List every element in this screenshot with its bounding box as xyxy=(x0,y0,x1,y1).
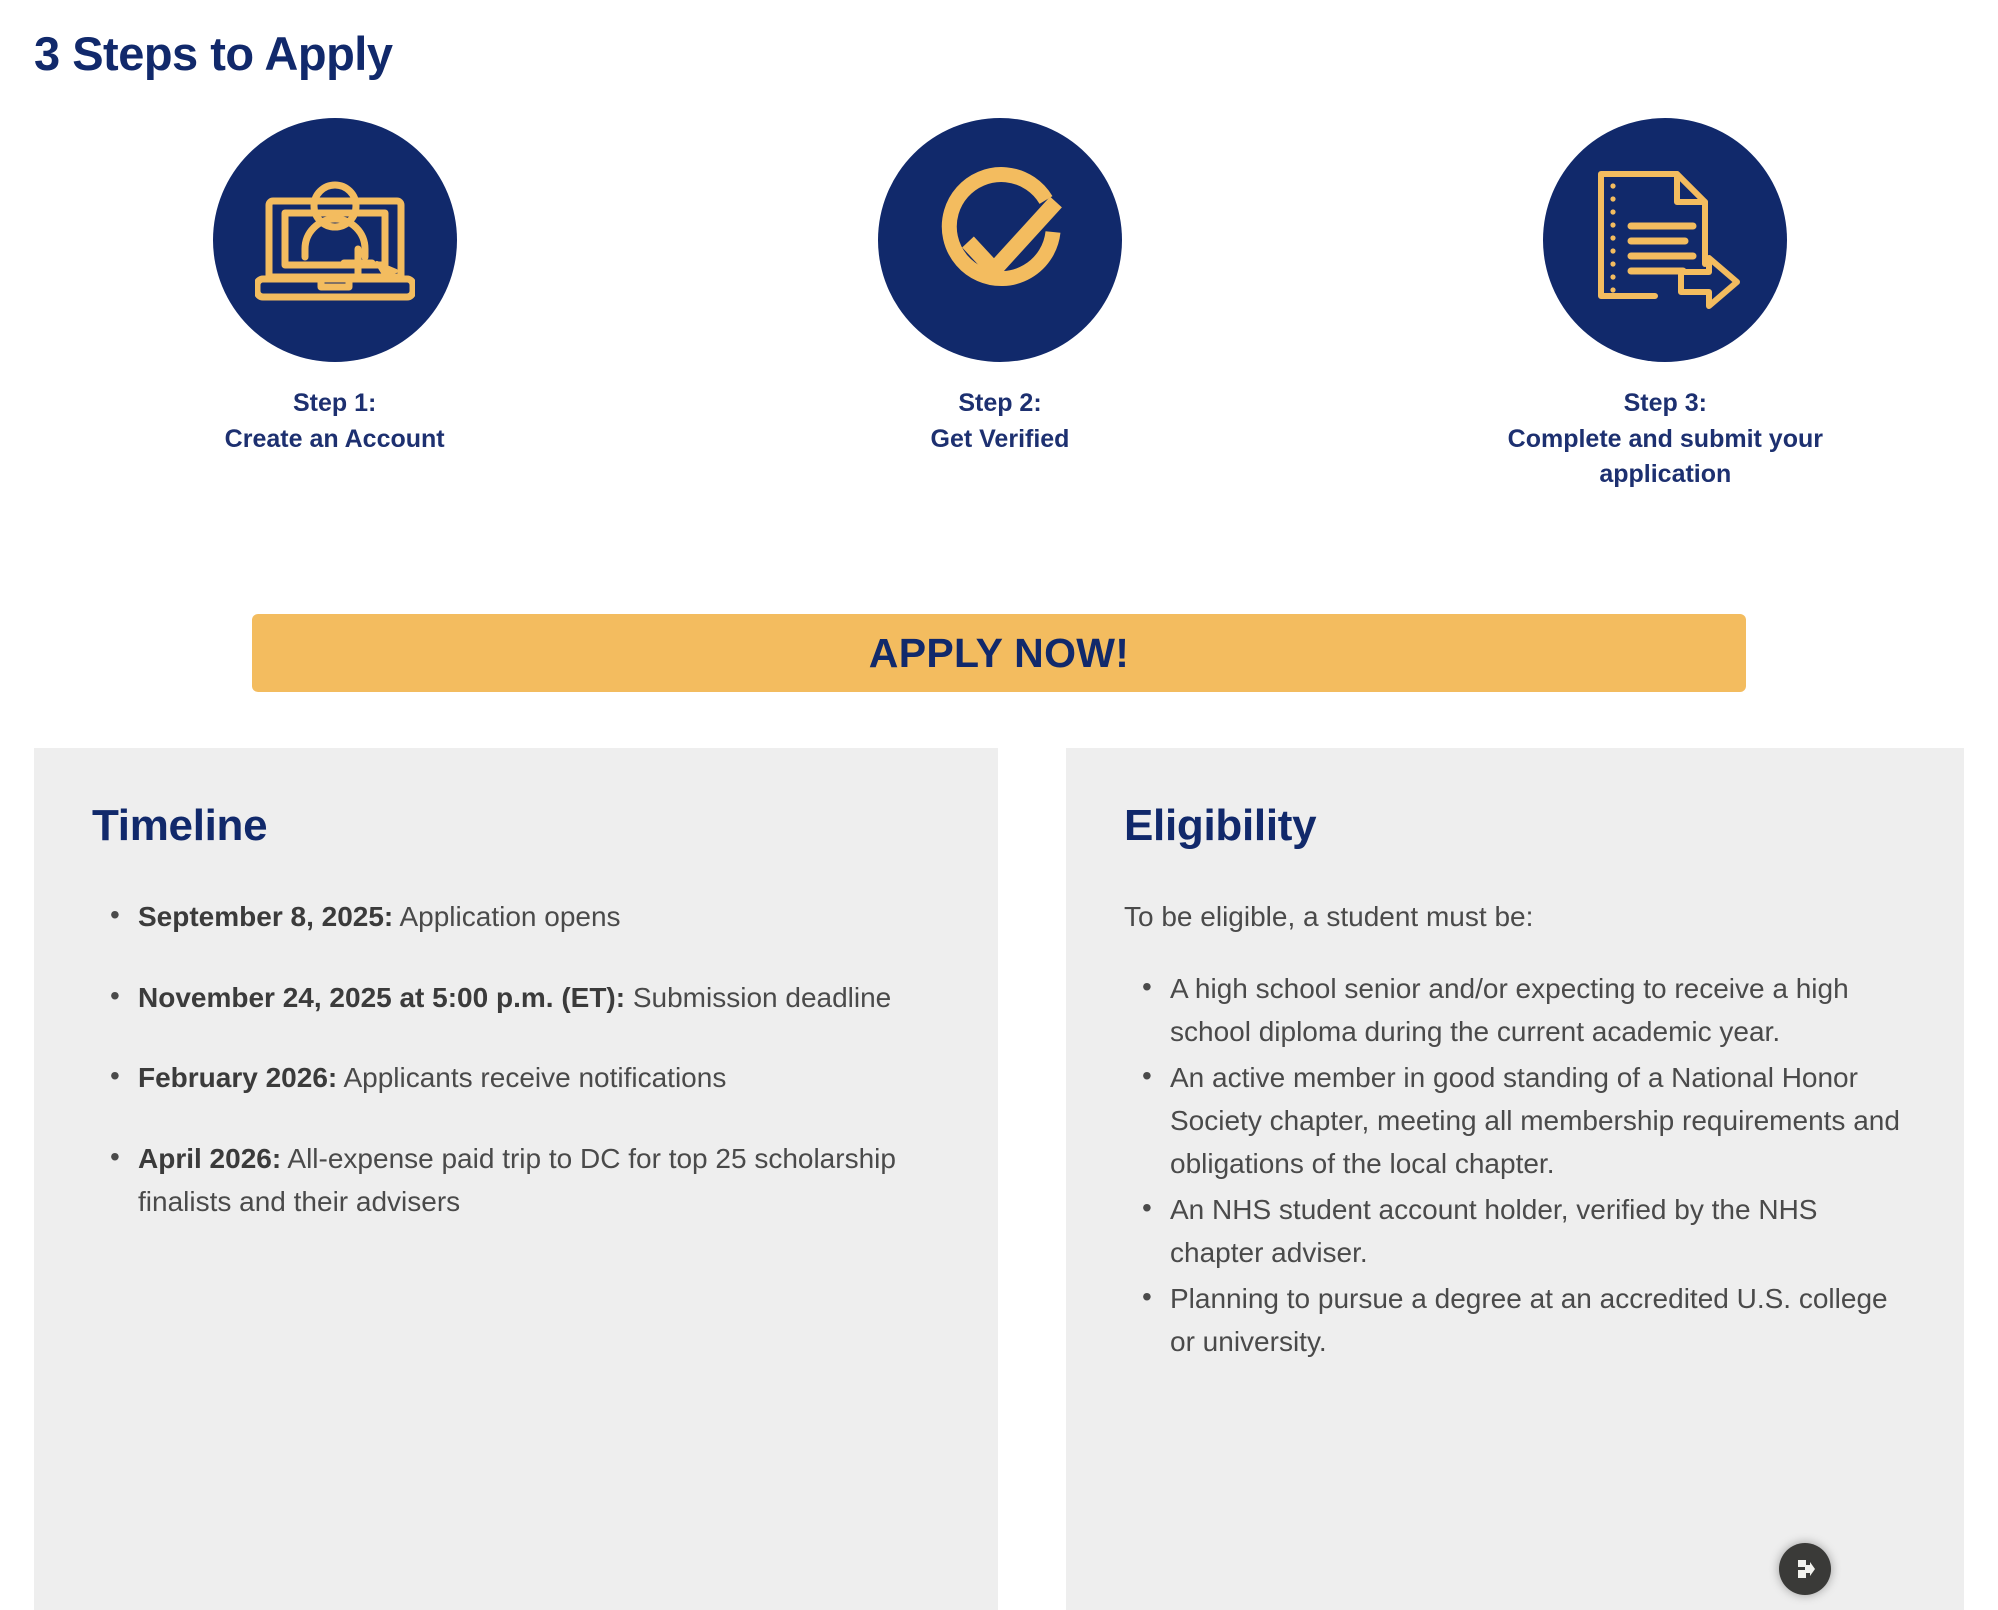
document-arrow-icon xyxy=(1589,164,1741,316)
list-item: An NHS student account holder, verified … xyxy=(1170,1189,1906,1274)
page-title: 3 Steps to Apply xyxy=(34,25,392,84)
timeline-list: September 8, 2025: Application opens Nov… xyxy=(92,896,940,1223)
page-root: 3 Steps to Apply xyxy=(0,0,1998,1610)
apply-now-container: APPLY NOW! xyxy=(0,614,1998,692)
timeline-item-text: Submission deadline xyxy=(625,982,891,1013)
laptop-add-user-icon xyxy=(255,165,415,315)
step-1-icon-badge xyxy=(213,118,457,362)
step-1-line-1: Step 1: xyxy=(225,386,445,422)
timeline-item-text: Applicants receive notifications xyxy=(337,1062,726,1093)
list-item: September 8, 2025: Application opens xyxy=(138,896,940,939)
eligibility-intro: To be eligible, a student must be: xyxy=(1124,896,1906,938)
list-item: February 2026: Applicants receive notifi… xyxy=(138,1057,940,1100)
list-item: April 2026: All-expense paid trip to DC … xyxy=(138,1138,940,1223)
apply-now-button[interactable]: APPLY NOW! xyxy=(252,614,1746,692)
step-3-label: Step 3: Complete and submit your applica… xyxy=(1455,386,1875,493)
step-2-label: Step 2: Get Verified xyxy=(931,386,1070,457)
list-item: November 24, 2025 at 5:00 p.m. (ET): Sub… xyxy=(138,977,940,1020)
step-item-2: Step 2: Get Verified xyxy=(667,118,1332,457)
timeline-item-date: September 8, 2025: xyxy=(138,901,393,932)
step-3-icon-badge xyxy=(1543,118,1787,362)
steps-row: Step 1: Create an Account Step 2: Get Ve… xyxy=(0,118,1998,493)
info-panels: Timeline September 8, 2025: Application … xyxy=(34,748,1964,1610)
eligibility-title: Eligibility xyxy=(1124,802,1906,850)
timeline-item-date: April 2026: xyxy=(138,1143,281,1174)
list-item: A high school senior and/or expecting to… xyxy=(1170,968,1906,1053)
step-item-1: Step 1: Create an Account xyxy=(2,118,667,457)
eligibility-list: A high school senior and/or expecting to… xyxy=(1124,968,1906,1363)
check-circle-icon xyxy=(920,160,1080,320)
timeline-title: Timeline xyxy=(92,802,940,850)
timeline-item-date: February 2026: xyxy=(138,1062,337,1093)
step-2-line-1: Step 2: xyxy=(931,386,1070,422)
step-3-line-1: Step 3: xyxy=(1455,386,1875,422)
step-2-icon-badge xyxy=(878,118,1122,362)
list-item: Planning to pursue a degree at an accred… xyxy=(1170,1278,1906,1363)
step-1-line-2: Create an Account xyxy=(225,422,445,458)
list-item: An active member in good standing of a N… xyxy=(1170,1057,1906,1185)
logo-badge-icon[interactable] xyxy=(1779,1543,1831,1595)
step-item-3: Step 3: Complete and submit your applica… xyxy=(1333,118,1998,493)
step-1-label: Step 1: Create an Account xyxy=(225,386,445,457)
step-2-line-2: Get Verified xyxy=(931,422,1070,458)
timeline-item-text: Application opens xyxy=(393,901,620,932)
eligibility-panel: Eligibility To be eligible, a student mu… xyxy=(1066,748,1964,1610)
timeline-panel: Timeline September 8, 2025: Application … xyxy=(34,748,998,1610)
timeline-item-date: November 24, 2025 at 5:00 p.m. (ET): xyxy=(138,982,625,1013)
step-3-line-2: Complete and submit your application xyxy=(1455,422,1875,493)
